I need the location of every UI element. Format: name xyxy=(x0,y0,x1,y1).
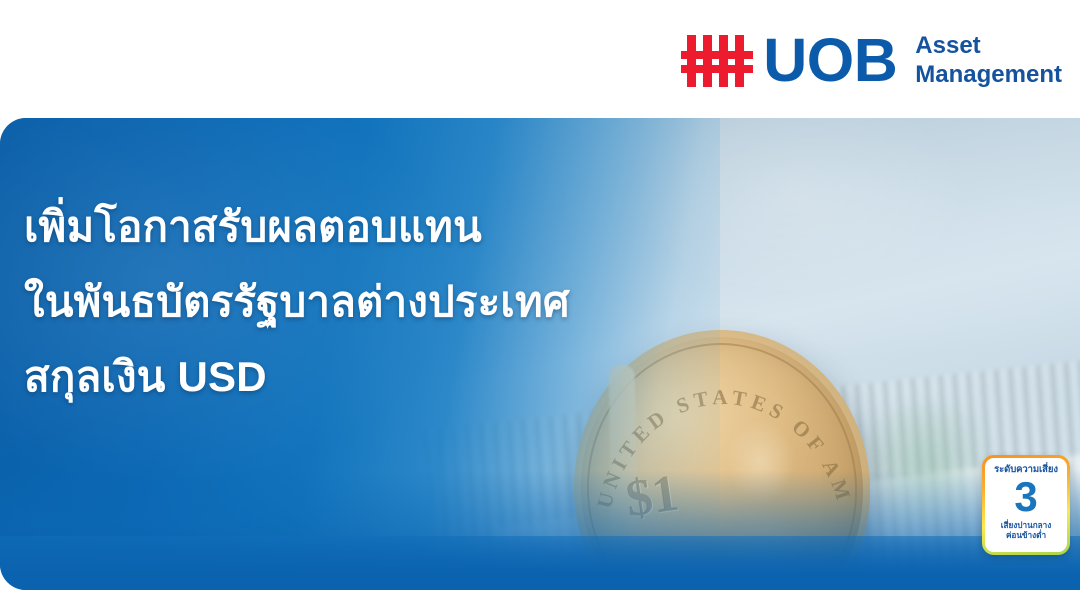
uob-hash-mark-icon xyxy=(685,35,749,87)
risk-badge-inner: ระดับความเสี่ยง 3 เสี่ยงปานกลาง ค่อนข้าง… xyxy=(985,458,1067,552)
bottom-blue-wash-solid xyxy=(0,536,1080,590)
risk-badge-level: 3 xyxy=(1014,476,1037,518)
asset-management-label: Asset Management xyxy=(911,32,1062,89)
risk-desc-line-2: ค่อนข้างต่ำ xyxy=(1001,531,1052,542)
headline-line-3: สกุลเงิน USD xyxy=(24,340,604,415)
promo-banner: UNITED STATES OF AMERICA $1 เพิ่มโอกาสรั… xyxy=(0,118,1080,590)
risk-badge-description: เสี่ยงปานกลาง ค่อนข้างต่ำ xyxy=(1001,521,1052,542)
uob-wordmark: UOB xyxy=(763,30,897,91)
banner-page: UOB Asset Management xyxy=(0,0,1080,607)
risk-desc-line-1: เสี่ยงปานกลาง xyxy=(1001,521,1052,532)
header: UOB Asset Management xyxy=(0,0,1080,118)
headline-line-2: ในพันธบัตรรัฐบาลต่างประเทศ xyxy=(24,265,604,340)
uob-logo-lockup[interactable]: UOB Asset Management xyxy=(685,30,1062,91)
risk-level-badge: ระดับความเสี่ยง 3 เสี่ยงปานกลาง ค่อนข้าง… xyxy=(982,455,1070,555)
headline: เพิ่มโอกาสรับผลตอบแทน ในพันธบัตรรัฐบาลต่… xyxy=(24,190,604,414)
logo-sub-line-1: Asset xyxy=(915,32,1062,60)
headline-line-1: เพิ่มโอกาสรับผลตอบแทน xyxy=(24,190,604,265)
logo-sub-line-2: Management xyxy=(915,61,1062,89)
